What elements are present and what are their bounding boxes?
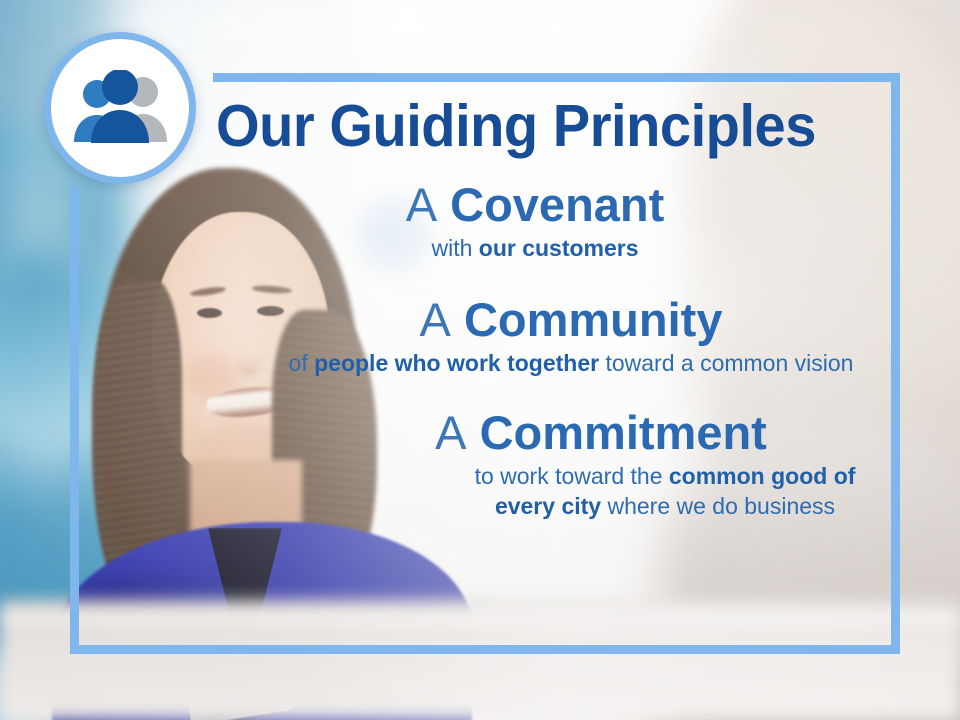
principle-subtitle-part: of [289, 350, 315, 376]
principles-list: A Covenant with our customers A Communit… [215, 176, 875, 525]
principle-subtitle-part: where we do business [601, 493, 835, 519]
principle-title: A Covenant [195, 176, 875, 233]
principle-subtitle-part-bold: people who work together [314, 350, 599, 376]
people-group-badge [44, 32, 196, 184]
frame-border-left [70, 186, 79, 654]
page-title: Our Guiding Principles [216, 94, 853, 158]
desk-edge-highlight [0, 608, 960, 624]
principle-subtitle: with our customers [195, 233, 875, 263]
principle-keyword: Community [464, 293, 723, 346]
principle-title: A Commitment [327, 404, 875, 461]
principle-keyword: Commitment [480, 406, 767, 459]
principle-article: A [420, 293, 451, 346]
principle-article: A [435, 406, 466, 459]
principle-title: A Community [267, 291, 875, 348]
principle-subtitle: of people who work together toward a com… [267, 348, 875, 378]
guiding-principles-graphic: FLOW FLOW [0, 0, 960, 720]
frame-border-top [213, 73, 900, 82]
frame-border-right [891, 73, 900, 654]
frame-border-bottom [70, 645, 900, 654]
principle-subtitle-part-bold: our customers [479, 235, 639, 261]
principle-community: A Community of people who work together … [267, 291, 875, 378]
principle-subtitle-part: with [431, 235, 478, 261]
principle-subtitle-part: toward a common vision [599, 350, 853, 376]
principle-subtitle-part: to work toward the [475, 463, 669, 489]
principle-keyword: Covenant [450, 178, 664, 231]
principle-article: A [406, 178, 437, 231]
principle-subtitle: to work toward the common good of every … [455, 461, 875, 521]
principle-covenant: A Covenant with our customers [195, 176, 875, 263]
principle-commitment: A Commitment to work toward the common g… [327, 404, 875, 521]
people-group-icon [67, 70, 173, 146]
